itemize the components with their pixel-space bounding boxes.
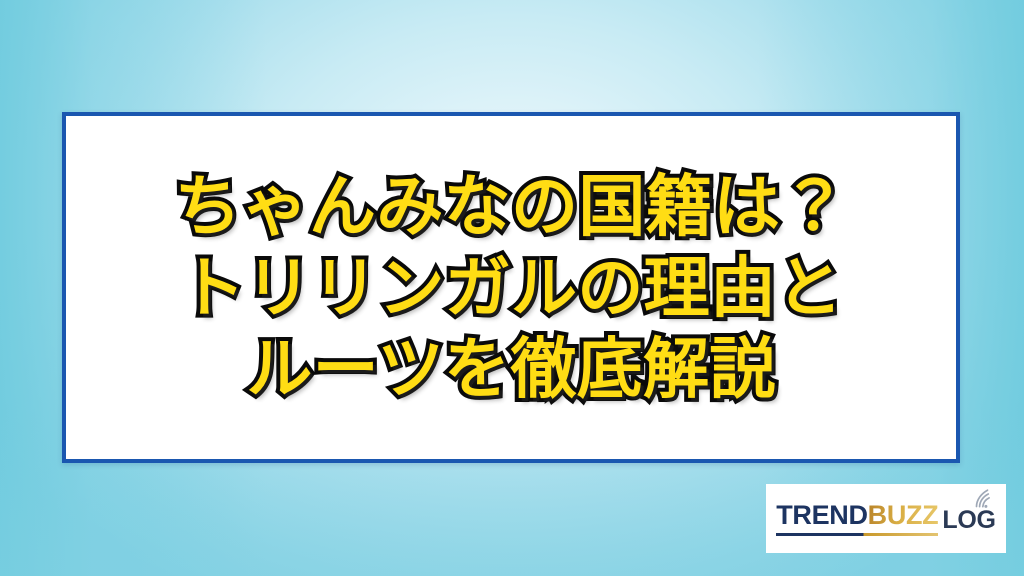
brand-wordmark-row: TREND BUZZ xyxy=(776,502,938,529)
brand-wordmark: TREND BUZZ xyxy=(776,502,938,536)
brand-underline-rule xyxy=(776,533,938,536)
brand-word-buzz: BUZZ xyxy=(868,502,939,529)
signal-waves-icon xyxy=(973,486,999,508)
brand-word-trend: TREND xyxy=(776,502,867,529)
brand-logo-inner: TREND BUZZ LOG xyxy=(776,502,996,536)
headline-text-block: ちゃんみなの国籍は？ トリリンガルの理由と ルーツを徹底解説 xyxy=(66,165,956,410)
thumbnail-canvas: ちゃんみなの国籍は？ トリリンガルの理由と ルーツを徹底解説 TREND BUZ… xyxy=(0,0,1024,576)
brand-logo[interactable]: TREND BUZZ LOG xyxy=(766,484,1006,553)
headline-line-1: ちゃんみなの国籍は？ xyxy=(80,165,942,247)
brand-word-log: LOG xyxy=(942,508,995,533)
headline-line-3: ルーツを徹底解説 xyxy=(80,329,942,410)
headline-card: ちゃんみなの国籍は？ トリリンガルの理由と ルーツを徹底解説 xyxy=(62,112,960,463)
headline-line-2: トリリンガルの理由と xyxy=(80,248,942,329)
